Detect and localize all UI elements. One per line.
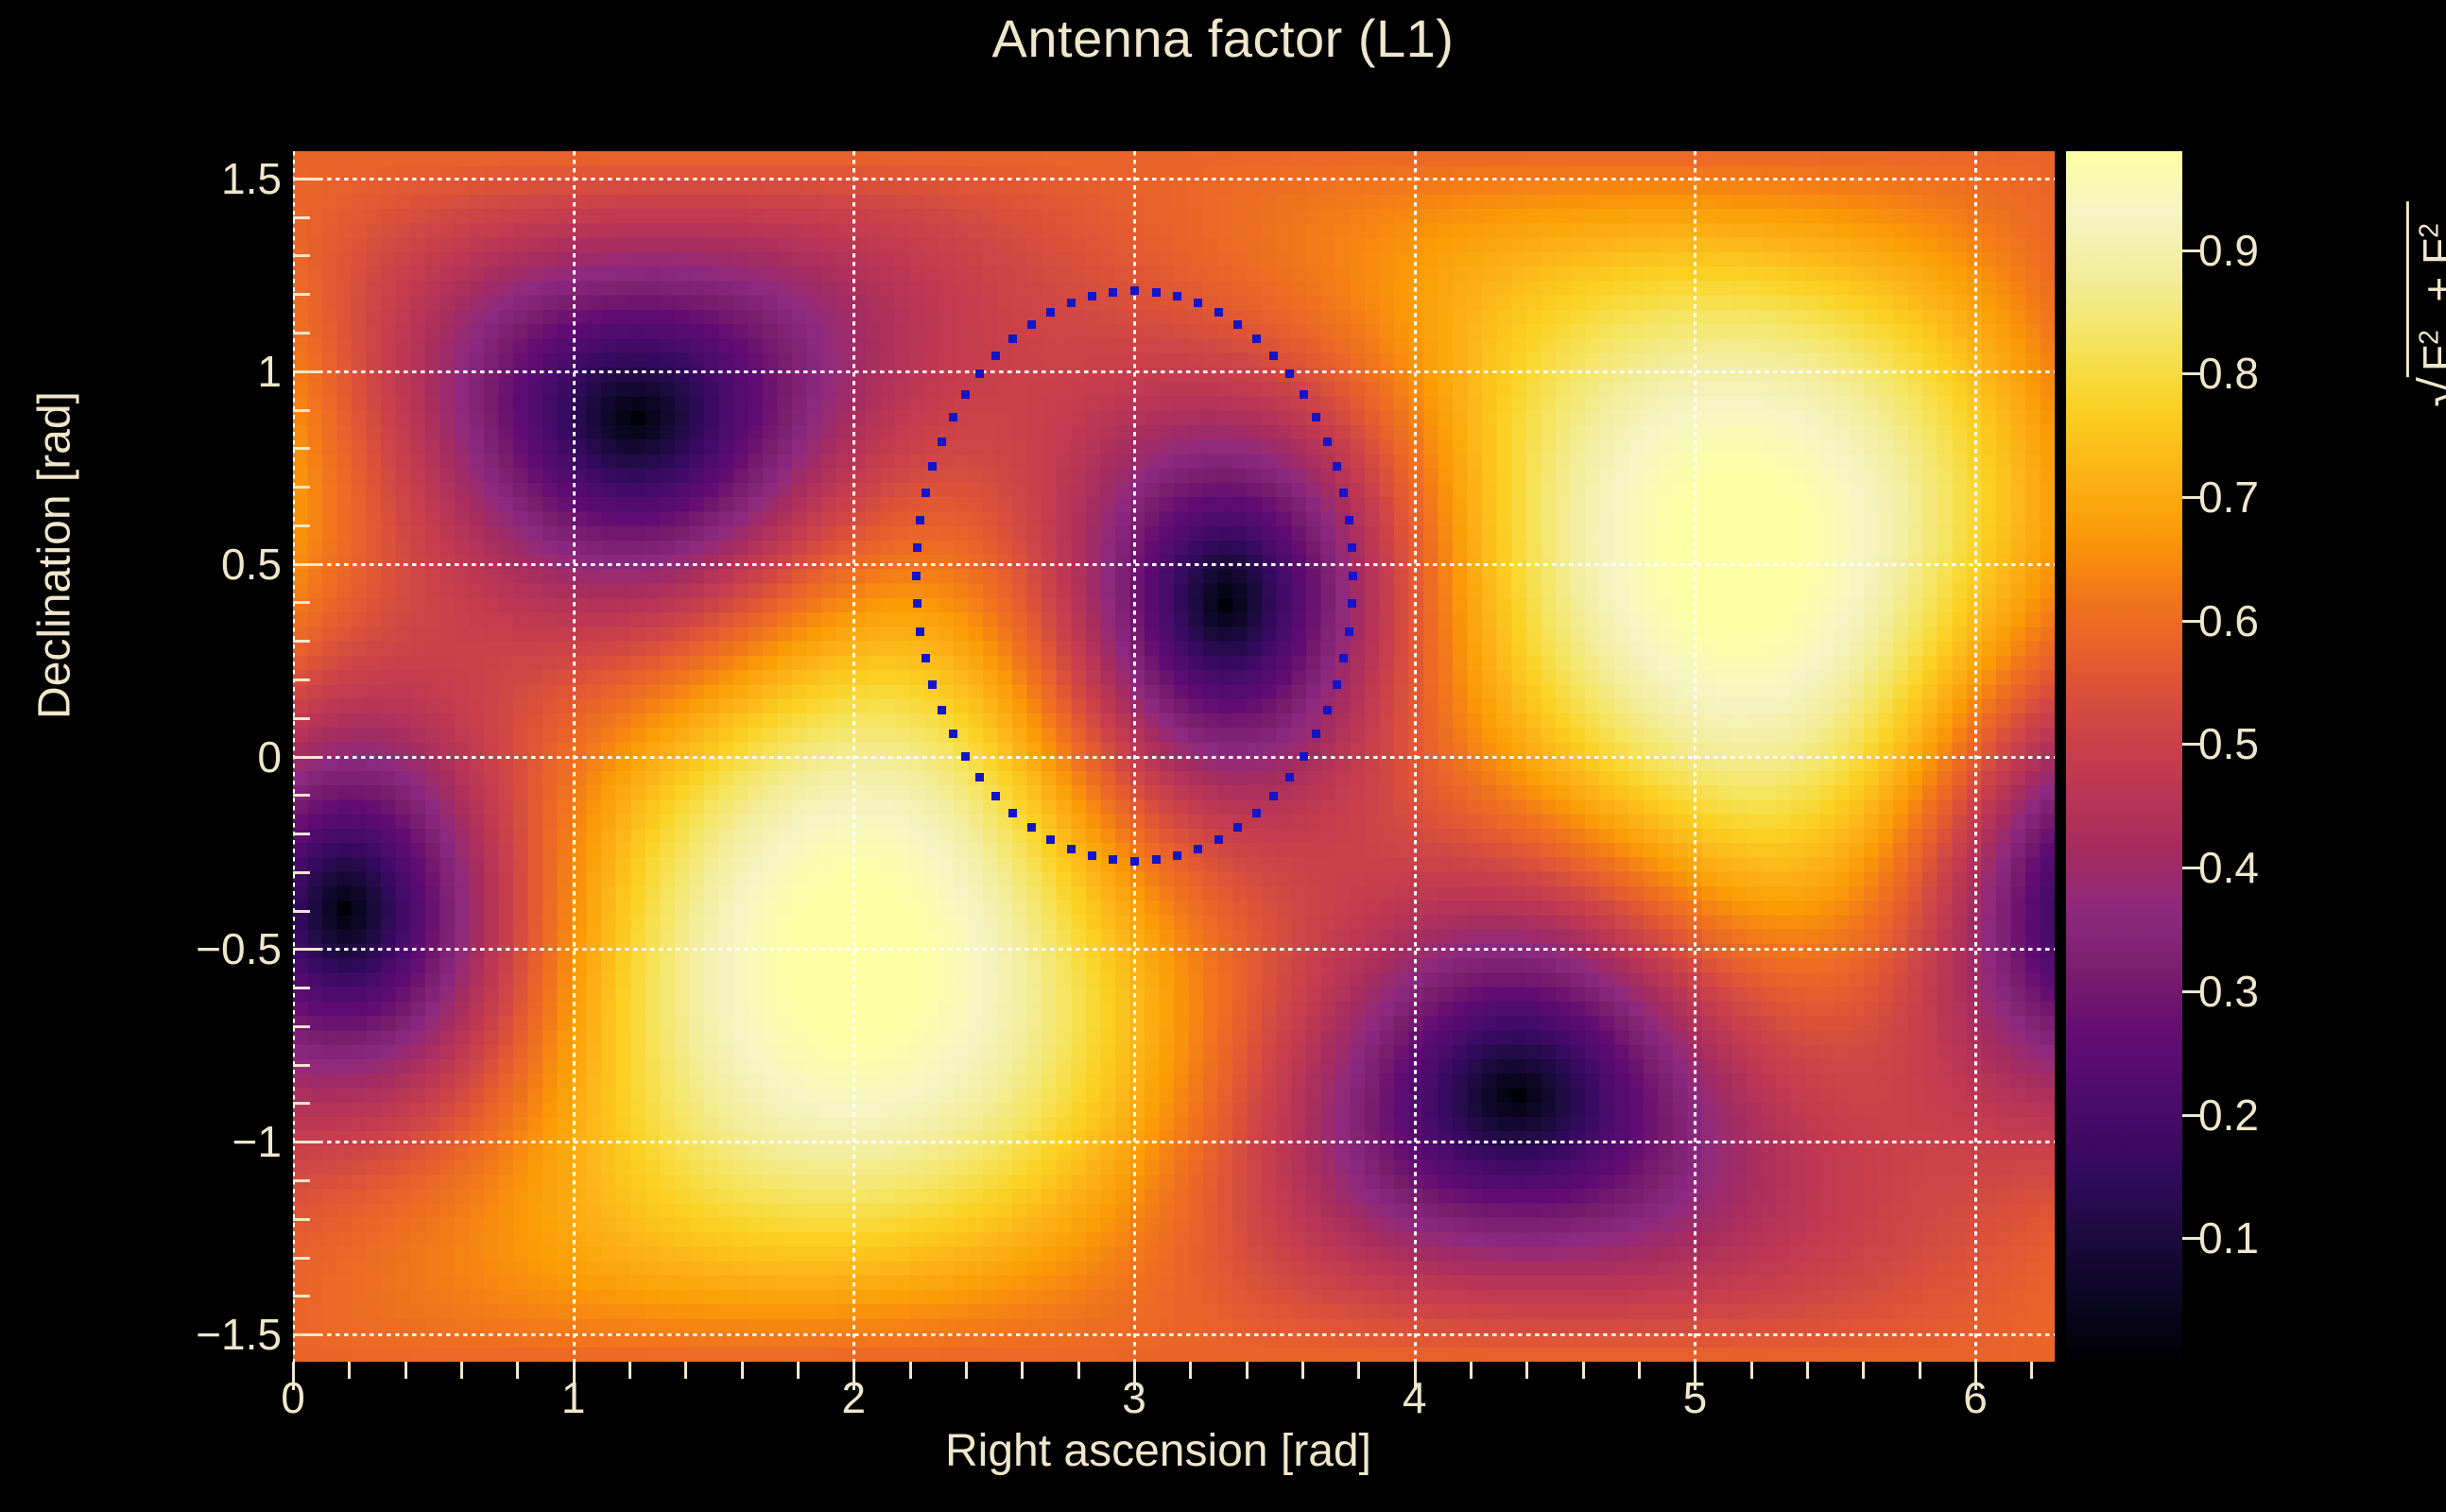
y-axis-tick: [293, 756, 321, 759]
x-axis-tick-label: 5: [1683, 1372, 1708, 1423]
contour-dot: [1349, 572, 1357, 580]
y-axis-tick: [293, 178, 321, 180]
contour-dot: [913, 599, 922, 608]
term1-sup: 2: [2415, 330, 2445, 345]
x-axis-minor-tick: [1470, 1362, 1473, 1379]
contour-dot: [1046, 835, 1055, 844]
x-axis-tick-label: 0: [281, 1372, 305, 1423]
x-axis-minor-tick: [684, 1362, 687, 1379]
colorbar-tick-label: 0.6: [2198, 595, 2259, 646]
contour-dot: [938, 706, 946, 714]
contour-dot: [1269, 352, 1278, 360]
x-axis-tick-label: 4: [1403, 1372, 1427, 1423]
x-axis-minor-tick: [1806, 1362, 1809, 1379]
contour-dot: [1252, 335, 1261, 343]
contour-dot: [1285, 369, 1294, 378]
colorbar-tick-label: 0.3: [2198, 966, 2259, 1017]
contour-dot: [1345, 516, 1353, 524]
contour-dot: [1323, 706, 1332, 714]
y-axis-tick-label: −1.5: [196, 1309, 282, 1360]
y-axis-minor-tick: [293, 910, 310, 913]
x-axis-tick-label: 3: [1122, 1372, 1146, 1423]
term2-sub: ×: [2439, 207, 2446, 223]
contour-dot: [1252, 809, 1261, 817]
x-axis-minor-tick: [1750, 1362, 1753, 1379]
colorbar-tick-label: 0.9: [2198, 225, 2259, 276]
x-axis-minor-tick: [1301, 1362, 1304, 1379]
y-axis-minor-tick: [293, 486, 310, 489]
x-axis-minor-tick: [2030, 1362, 2033, 1379]
x-axis-minor-tick: [1582, 1362, 1585, 1379]
x-axis-minor-tick: [1021, 1362, 1024, 1379]
y-axis-title: Declination [rad]: [29, 263, 81, 849]
contour-dot: [1027, 823, 1036, 832]
x-axis-minor-tick: [405, 1362, 407, 1379]
y-axis-minor-tick: [293, 1102, 310, 1105]
contour-dot: [1345, 627, 1353, 636]
y-axis-minor-tick: [293, 293, 310, 296]
x-axis-minor-tick: [1246, 1362, 1249, 1379]
y-axis-minor-tick: [293, 254, 310, 257]
y-axis-minor-tick: [293, 332, 310, 335]
heatmap-bitmap: [293, 151, 2055, 1362]
y-axis-minor-tick: [293, 409, 310, 412]
y-axis-minor-tick: [293, 1064, 310, 1067]
contour-dot: [1152, 855, 1161, 864]
plot-title: Antenna factor (L1): [0, 8, 2446, 69]
y-axis-minor-tick: [293, 717, 310, 720]
y-axis-minor-tick: [293, 447, 310, 450]
y-axis-minor-tick: [293, 833, 310, 835]
y-axis-minor-tick: [293, 640, 310, 643]
colorbar-tick-label: 0.4: [2198, 842, 2259, 893]
y-axis-tick: [293, 1141, 321, 1143]
x-axis-minor-tick: [797, 1362, 800, 1379]
y-axis-minor-tick: [293, 794, 310, 797]
colorbar-tick-label: 0.2: [2198, 1090, 2259, 1141]
operator: +: [2414, 277, 2446, 302]
y-axis-tick-label: 0: [257, 731, 282, 782]
x-axis-tick-label: 1: [561, 1372, 586, 1423]
contour-dot: [975, 773, 984, 782]
y-axis-minor-tick: [293, 1179, 310, 1182]
contour-dot: [1300, 390, 1308, 399]
colorbar-tick-label: 0.5: [2198, 718, 2259, 769]
x-axis-minor-tick: [1357, 1362, 1360, 1379]
y-axis-tick-label: −0.5: [196, 923, 282, 974]
y-axis-tick-label: −1: [233, 1116, 282, 1167]
contour-dot: [922, 654, 930, 662]
y-axis-minor-tick: [293, 216, 310, 219]
colorbar-gradient: [2066, 151, 2182, 1362]
contour-dot: [991, 352, 1000, 360]
contour-dot: [1173, 851, 1181, 860]
contour-dot: [1046, 308, 1055, 317]
x-axis-minor-tick: [629, 1362, 631, 1379]
contour-dot: [916, 627, 924, 636]
term1-base: F: [2414, 345, 2446, 371]
contour-dot: [949, 730, 957, 738]
contour-dot: [1300, 752, 1308, 761]
y-axis-tick-label: 1: [257, 346, 282, 397]
x-axis-minor-tick: [1189, 1362, 1192, 1379]
term2-base: F: [2414, 238, 2446, 265]
contour-dot: [1312, 730, 1320, 738]
contour-dot: [1027, 320, 1036, 329]
contour-dot: [1233, 320, 1242, 329]
x-axis-minor-tick: [1919, 1362, 1921, 1379]
y-axis-minor-tick: [293, 1025, 310, 1028]
contour-dot: [1088, 292, 1096, 301]
y-axis-minor-tick: [293, 987, 310, 989]
contour-dot: [1008, 809, 1017, 817]
y-axis-tick-label: 0.5: [221, 539, 282, 590]
contour-dot: [1214, 308, 1223, 317]
contour-dot: [1233, 823, 1242, 832]
radicand: F2+ + F2×: [2406, 201, 2446, 377]
radical-icon: √: [2425, 377, 2446, 407]
contour-dot: [1339, 654, 1348, 662]
sqrt-expression: √F2+ + F2×: [2406, 201, 2446, 411]
contour-dot: [1109, 855, 1117, 864]
plot-canvas-root: Antenna factor (L1) −1.5−1−0.500.511.5 0…: [0, 0, 2446, 1512]
colorbar-tick-label: 0.7: [2198, 472, 2259, 523]
contour-dot: [1194, 845, 1202, 853]
x-axis-minor-tick: [909, 1362, 912, 1379]
contour-dot: [1109, 288, 1117, 297]
contour-dot: [1312, 413, 1320, 421]
contour-dot: [961, 390, 970, 399]
heatmap-plot-area[interactable]: [293, 151, 2055, 1362]
x-axis-minor-tick: [1862, 1362, 1865, 1379]
y-axis-minor-tick: [293, 871, 310, 874]
contour-dot: [1088, 851, 1096, 860]
x-axis-minor-tick: [965, 1362, 968, 1379]
x-axis-minor-tick: [516, 1362, 519, 1379]
contour-dot: [928, 680, 937, 689]
y-axis-tick-label: 1.5: [221, 153, 282, 204]
contour-dot: [913, 543, 922, 552]
contour-dot: [991, 792, 1000, 800]
term2-sup: 2: [2415, 223, 2445, 238]
x-axis-tick-label: 6: [1963, 1372, 1988, 1423]
y-axis-minor-tick: [293, 1295, 310, 1297]
contour-dot: [922, 489, 930, 497]
contour-dot: [928, 462, 937, 471]
y-axis-tick: [293, 948, 321, 951]
x-axis-minor-tick: [741, 1362, 744, 1379]
contour-dot: [1285, 773, 1294, 782]
contour-dot: [1348, 543, 1356, 552]
contour-dot: [1214, 835, 1223, 844]
y-axis-tick: [293, 563, 321, 566]
colorbar[interactable]: [2066, 151, 2182, 1362]
contour-dot: [938, 438, 946, 446]
x-axis-minor-tick: [460, 1362, 463, 1379]
colorbar-tick-label: 0.8: [2198, 348, 2259, 399]
x-axis-tick-label: 2: [842, 1372, 867, 1423]
contour-dot: [1130, 857, 1139, 866]
y-axis-tick: [293, 370, 321, 373]
colorbar-axis-title: √F2+ + F2×: [2266, 132, 2446, 472]
x-axis-minor-tick: [1638, 1362, 1641, 1379]
contour-dot: [1323, 438, 1332, 446]
colorbar-axis-title-text: √F2+ + F2×: [2406, 60, 2446, 552]
contour-dot: [1333, 680, 1341, 689]
contour-dot: [1067, 845, 1076, 853]
contour-dot: [1130, 286, 1139, 295]
y-axis-tick: [293, 1333, 321, 1336]
x-axis-title: Right ascension [rad]: [945, 1425, 2268, 1477]
colorbar-tick-label: 0.1: [2198, 1212, 2259, 1263]
contour-dot: [1269, 792, 1278, 800]
contour-dot: [916, 516, 924, 524]
contour-dot: [1194, 299, 1202, 307]
contour-dot: [961, 752, 970, 761]
y-axis-minor-tick: [293, 601, 310, 604]
contour-dot: [1008, 335, 1017, 343]
y-axis-minor-tick: [293, 1218, 310, 1221]
contour-dot: [912, 572, 921, 580]
y-axis-minor-tick: [293, 524, 310, 527]
x-axis-minor-tick: [1077, 1362, 1080, 1379]
x-axis-minor-tick: [348, 1362, 351, 1379]
contour-dot: [1333, 462, 1341, 471]
contour-dot: [1339, 489, 1348, 497]
term1-sub: +: [2439, 314, 2446, 330]
contour-dot: [1348, 599, 1356, 608]
contour-dot: [1067, 299, 1076, 307]
contour-dot: [975, 369, 984, 378]
heatmap-image: [293, 151, 2055, 1362]
contour-dot: [1152, 288, 1161, 297]
contour-dot: [949, 413, 957, 421]
contour-dot: [1173, 292, 1181, 301]
y-axis-minor-tick: [293, 1257, 310, 1260]
y-axis-minor-tick: [293, 679, 310, 681]
x-axis-minor-tick: [1525, 1362, 1528, 1379]
